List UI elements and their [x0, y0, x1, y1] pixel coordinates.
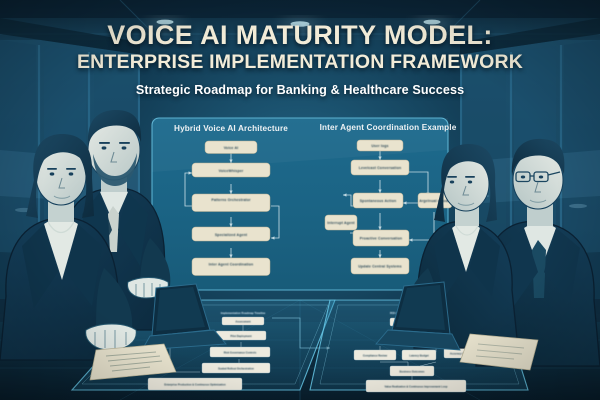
document-right[interactable]	[460, 334, 538, 370]
people-right	[0, 0, 600, 400]
poster-scene: VOICE AI MATURITY MODEL: ENTERPRISE IMPL…	[0, 0, 600, 400]
